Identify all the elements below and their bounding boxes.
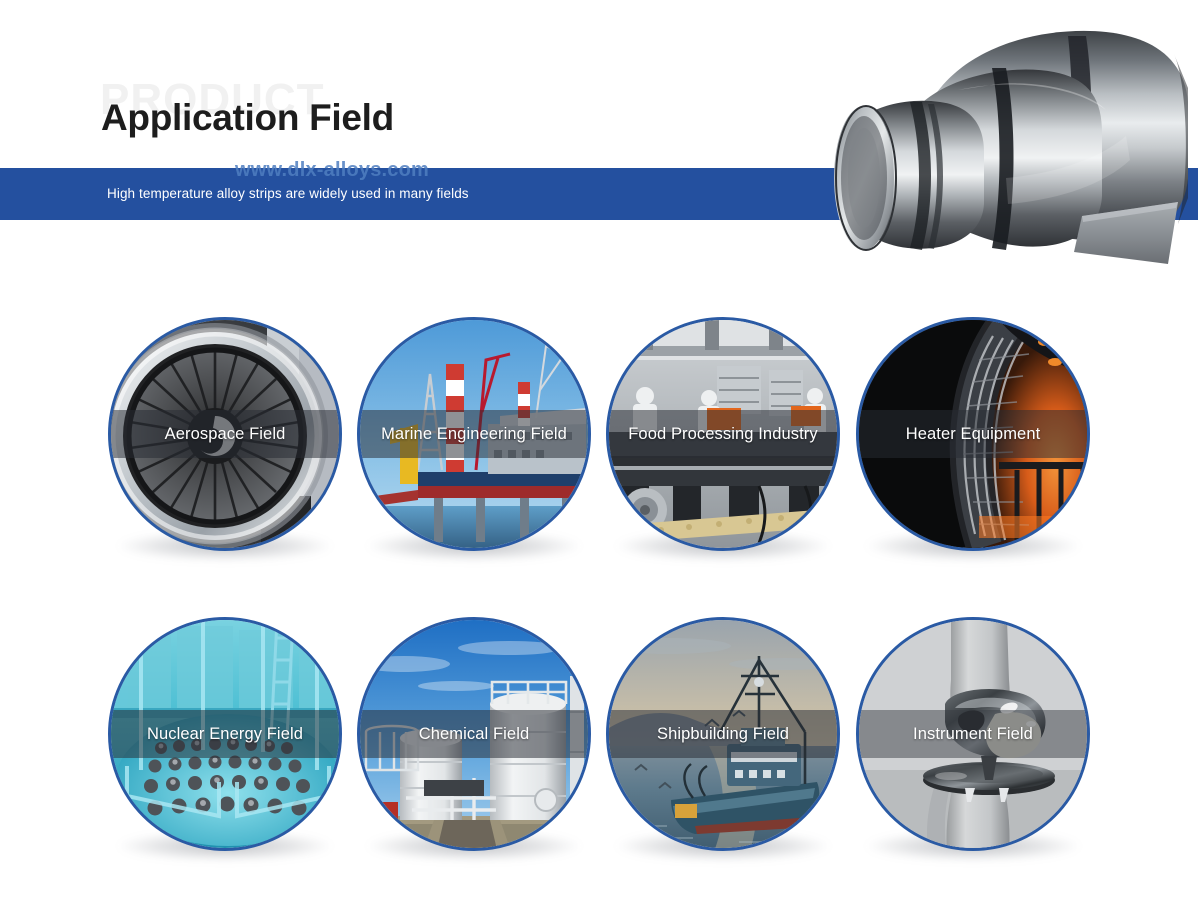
field-caption-band: Marine Engineering Field bbox=[360, 410, 588, 458]
field-card-heater[interactable]: Heater Equipment bbox=[856, 317, 1090, 551]
field-circle[interactable]: Food Processing Industry bbox=[606, 317, 840, 551]
field-circle[interactable]: Chemical Field bbox=[357, 617, 591, 851]
field-circle[interactable]: Aerospace Field bbox=[108, 317, 342, 551]
field-caption-band: Heater Equipment bbox=[859, 410, 1087, 458]
field-card-nuclear[interactable]: Nuclear Energy Field bbox=[108, 617, 342, 851]
field-label: Chemical Field bbox=[419, 725, 530, 744]
field-label: Food Processing Industry bbox=[628, 425, 818, 444]
field-label: Shipbuilding Field bbox=[657, 725, 789, 744]
field-label: Aerospace Field bbox=[165, 425, 286, 444]
field-caption-band: Nuclear Energy Field bbox=[111, 710, 339, 758]
field-circle[interactable]: Shipbuilding Field bbox=[606, 617, 840, 851]
field-circle[interactable]: Heater Equipment bbox=[856, 317, 1090, 551]
field-label: Heater Equipment bbox=[906, 425, 1041, 444]
field-card-aerospace[interactable]: Aerospace Field bbox=[108, 317, 342, 551]
field-card-marine[interactable]: Marine Engineering Field bbox=[357, 317, 591, 551]
field-caption-band: Instrument Field bbox=[859, 710, 1087, 758]
field-caption-band: Chemical Field bbox=[360, 710, 588, 758]
field-card-instrument[interactable]: Instrument Field bbox=[856, 617, 1090, 851]
field-caption-band: Aerospace Field bbox=[111, 410, 339, 458]
field-circle[interactable]: Nuclear Energy Field bbox=[108, 617, 342, 851]
field-label: Nuclear Energy Field bbox=[147, 725, 303, 744]
field-circle[interactable]: Marine Engineering Field bbox=[357, 317, 591, 551]
field-label: Instrument Field bbox=[913, 725, 1033, 744]
field-label: Marine Engineering Field bbox=[381, 425, 567, 444]
application-field-grid: Aerospace Field bbox=[0, 0, 1198, 908]
field-card-shipbuilding[interactable]: Shipbuilding Field bbox=[606, 617, 840, 851]
field-caption-band: Shipbuilding Field bbox=[609, 710, 837, 758]
field-card-chemical[interactable]: Chemical Field bbox=[357, 617, 591, 851]
field-caption-band: Food Processing Industry bbox=[609, 410, 837, 458]
field-card-food[interactable]: Food Processing Industry bbox=[606, 317, 840, 551]
field-circle[interactable]: Instrument Field bbox=[856, 617, 1090, 851]
